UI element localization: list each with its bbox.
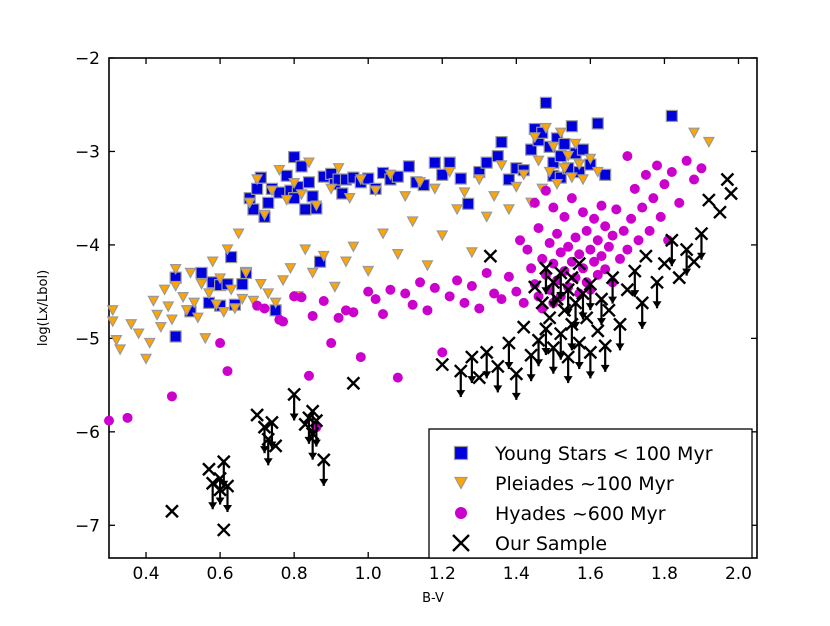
- data-point: [578, 208, 587, 217]
- upper-limit-arrow-head: [615, 343, 624, 350]
- data-point: [530, 198, 539, 207]
- data-point: [638, 203, 647, 212]
- upper-limit-arrow-head: [264, 458, 273, 465]
- data-point: [697, 164, 706, 173]
- data-point: [445, 292, 454, 301]
- y-tick-label: −2: [75, 49, 100, 69]
- upper-limit-arrow-head: [653, 301, 662, 308]
- data-point: [438, 348, 447, 357]
- data-point: [145, 338, 155, 347]
- upper-limit-arrow-head: [319, 479, 328, 486]
- data-point: [152, 310, 162, 319]
- upper-limit-arrow-head: [527, 374, 536, 381]
- data-point: [452, 205, 462, 214]
- data-point: [260, 304, 269, 313]
- data-point: [171, 281, 181, 290]
- data-point: [667, 168, 676, 177]
- data-point: [460, 298, 469, 307]
- data-point: [163, 302, 173, 311]
- data-point: [429, 157, 440, 168]
- data-point: [645, 226, 654, 235]
- data-point: [348, 242, 358, 251]
- data-point: [590, 214, 599, 223]
- data-point: [193, 313, 203, 322]
- data-point: [653, 161, 662, 170]
- data-point: [649, 194, 658, 203]
- x-tick-label: 1.8: [651, 564, 678, 584]
- data-point: [123, 413, 132, 422]
- data-point: [497, 161, 507, 170]
- data-point: [223, 367, 232, 376]
- data-point: [608, 231, 617, 240]
- data-point: [393, 373, 402, 382]
- upper-limit-arrow-head: [586, 303, 595, 310]
- upper-limit-arrow-head: [564, 376, 573, 383]
- data-point: [455, 173, 466, 184]
- data-point: [567, 194, 576, 203]
- data-point: [422, 261, 432, 270]
- x-tick-label: 0.8: [281, 564, 308, 584]
- upper-limit-arrow-head: [534, 359, 543, 366]
- y-tick-label: −7: [75, 516, 100, 536]
- data-point: [134, 329, 144, 338]
- data-point: [219, 308, 229, 317]
- data-point: [216, 339, 225, 348]
- data-point: [308, 311, 317, 320]
- legend-label: Pleiades ~100 Myr: [495, 473, 674, 495]
- data-point: [459, 188, 469, 197]
- data-point: [330, 282, 340, 291]
- upper-limit-arrow-head: [597, 318, 606, 325]
- upper-limit-arrow-head: [493, 385, 502, 392]
- data-point: [393, 250, 403, 259]
- data-point: [538, 254, 547, 263]
- legend-label: Our Sample: [495, 533, 607, 555]
- chart-legend: Young Stars < 100 MyrPleiades ~100 MyrHy…: [429, 429, 752, 558]
- data-point: [297, 293, 306, 302]
- data-point: [356, 353, 365, 362]
- data-point: [496, 137, 507, 148]
- data-point: [504, 205, 514, 214]
- data-point: [285, 264, 295, 273]
- data-point: [564, 242, 573, 251]
- data-point: [467, 248, 477, 257]
- data-point: [627, 214, 636, 223]
- data-point: [378, 229, 388, 238]
- legend-marker-square: [455, 447, 468, 460]
- data-point: [545, 239, 554, 248]
- data-point: [400, 192, 410, 201]
- data-point: [208, 257, 218, 266]
- data-point: [660, 180, 669, 189]
- data-point: [482, 212, 492, 221]
- data-point: [511, 182, 521, 191]
- data-point: [489, 192, 499, 201]
- data-point: [300, 204, 311, 215]
- x-tick-label: 0.4: [133, 564, 160, 584]
- upper-limit-arrow-head: [549, 367, 558, 374]
- data-point: [204, 289, 214, 298]
- upper-limit-arrow-head: [601, 365, 610, 372]
- y-tick-label: −3: [75, 142, 100, 162]
- data-point: [615, 254, 624, 263]
- data-point: [327, 339, 336, 348]
- data-point: [604, 242, 613, 251]
- data-point: [575, 250, 584, 259]
- upper-limit-arrow-head: [308, 453, 317, 460]
- upper-limit-arrow-head: [456, 390, 465, 397]
- data-point: [577, 144, 588, 155]
- data-point: [527, 264, 536, 273]
- data-point: [463, 198, 474, 209]
- data-point: [690, 175, 699, 184]
- upper-limit-arrow-head: [512, 393, 521, 400]
- data-point: [504, 272, 513, 281]
- data-point: [296, 161, 307, 172]
- data-point: [597, 201, 606, 210]
- data-point: [612, 205, 621, 214]
- data-point: [408, 217, 418, 226]
- data-point: [593, 236, 602, 245]
- data-point: [586, 245, 595, 254]
- x-tick-label: 2.0: [725, 564, 752, 584]
- data-point: [185, 268, 195, 277]
- data-point: [307, 191, 318, 202]
- data-point: [105, 416, 114, 425]
- data-point: [430, 283, 439, 292]
- data-point: [592, 118, 603, 129]
- data-point: [278, 276, 288, 285]
- data-point: [559, 138, 570, 149]
- upper-limit-arrow-head: [208, 502, 217, 509]
- data-point: [341, 257, 351, 266]
- data-point: [689, 128, 699, 137]
- data-point: [200, 334, 210, 343]
- data-point: [319, 296, 328, 305]
- data-point: [656, 212, 665, 221]
- data-point: [482, 268, 491, 277]
- data-point: [475, 304, 484, 313]
- data-point: [597, 252, 606, 261]
- data-point: [453, 276, 462, 285]
- data-point: [534, 224, 543, 233]
- data-point: [363, 266, 373, 275]
- data-point: [516, 236, 525, 245]
- data-point: [304, 371, 313, 380]
- data-point: [401, 289, 410, 298]
- data-point: [178, 293, 188, 302]
- data-point: [578, 175, 588, 184]
- data-point: [630, 184, 639, 193]
- data-point: [549, 203, 558, 212]
- data-point: [371, 295, 380, 304]
- data-point: [582, 226, 591, 235]
- data-point: [300, 245, 310, 254]
- data-point: [308, 268, 318, 277]
- upper-limit-arrow-head: [586, 371, 595, 378]
- data-point: [197, 280, 207, 289]
- data-point: [379, 310, 388, 319]
- data-point: [623, 245, 632, 254]
- data-point: [444, 157, 455, 168]
- data-point: [408, 300, 417, 309]
- data-point: [641, 170, 650, 179]
- data-point: [623, 152, 632, 161]
- upper-limit-arrow-head: [575, 362, 584, 369]
- data-point: [334, 313, 343, 322]
- data-point: [474, 175, 484, 184]
- data-point: [560, 212, 569, 221]
- data-point: [167, 392, 176, 401]
- data-point: [675, 198, 684, 207]
- y-tick-label: −6: [75, 423, 100, 443]
- data-point: [566, 121, 577, 132]
- data-point: [619, 226, 628, 235]
- scatter-plot: 0.40.60.81.01.21.41.61.82.0−2−3−4−5−6−7 …: [0, 0, 830, 626]
- data-point: [279, 317, 288, 326]
- data-point: [634, 236, 643, 245]
- y-tick-label: −4: [75, 236, 100, 256]
- x-tick-label: 1.2: [429, 564, 456, 584]
- x-tick-label: 0.6: [207, 564, 234, 584]
- data-point: [386, 285, 395, 294]
- data-point: [512, 287, 521, 296]
- data-point: [364, 287, 373, 296]
- data-point: [170, 331, 181, 342]
- upper-limit-arrow-head: [290, 413, 299, 420]
- y-axis-label: log(Lx/Lbol): [36, 270, 51, 346]
- data-point: [263, 197, 274, 208]
- y-tick-label: −5: [75, 329, 100, 349]
- data-point: [571, 233, 580, 242]
- data-point: [430, 184, 440, 193]
- x-tick-label: 1.0: [355, 564, 382, 584]
- upper-limit-arrow-head: [223, 505, 232, 512]
- x-tick-label: 1.6: [577, 564, 604, 584]
- data-point: [423, 306, 432, 315]
- legend-marker-circle: [456, 508, 467, 519]
- data-point: [541, 186, 550, 195]
- data-point: [237, 279, 248, 290]
- upper-limit-arrow-head: [216, 498, 225, 505]
- data-point: [704, 138, 714, 147]
- data-point: [196, 267, 207, 278]
- upper-limit-arrow-head: [608, 297, 617, 304]
- data-point: [540, 97, 551, 108]
- data-point: [492, 151, 503, 162]
- data-point: [666, 110, 677, 121]
- data-point: [148, 296, 158, 305]
- data-point: [256, 280, 266, 289]
- data-point: [115, 345, 125, 354]
- data-point: [403, 161, 414, 172]
- x-tick-label: 1.4: [503, 564, 530, 584]
- upper-limit-arrow-head: [667, 259, 676, 266]
- data-point: [682, 156, 691, 165]
- data-point: [534, 156, 544, 165]
- data-point: [263, 289, 273, 298]
- legend-label: Hyades ~600 Myr: [495, 503, 666, 525]
- data-point: [552, 180, 562, 189]
- legend-label: Young Stars < 100 Myr: [494, 443, 713, 465]
- data-point: [160, 285, 170, 294]
- data-point: [111, 336, 121, 345]
- figure-canvas: 0.40.60.81.01.21.41.61.82.0−2−3−4−5−6−7 …: [0, 0, 830, 626]
- data-point: [601, 222, 610, 231]
- data-point: [234, 229, 244, 238]
- data-point: [156, 323, 166, 332]
- data-point: [467, 282, 476, 291]
- data-point: [553, 229, 562, 238]
- data-point: [167, 315, 177, 324]
- data-point: [303, 177, 314, 188]
- x-axis-label: B-V: [422, 591, 444, 606]
- data-point: [349, 308, 358, 317]
- data-point: [126, 320, 136, 329]
- data-point: [497, 295, 506, 304]
- data-point: [416, 278, 425, 287]
- data-point: [141, 354, 151, 363]
- data-point: [523, 245, 532, 254]
- data-point: [481, 157, 492, 168]
- upper-limit-arrow-head: [638, 322, 647, 329]
- data-point: [437, 231, 447, 240]
- data-point: [519, 298, 528, 307]
